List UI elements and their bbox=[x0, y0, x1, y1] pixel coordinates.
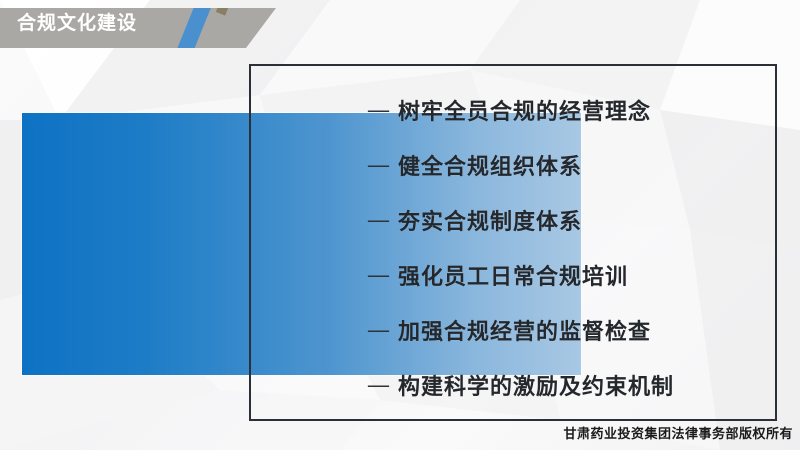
list-item: — 健全合规组织体系 bbox=[249, 137, 777, 192]
page-title: 合规文化建设 bbox=[17, 8, 137, 35]
list-item: — 夯实合规制度体系 bbox=[249, 192, 777, 247]
list-item-label: 健全合规组织体系 bbox=[398, 149, 582, 181]
list-item-label: 加强合规经营的监督检查 bbox=[398, 314, 651, 346]
dash-marker-icon: — bbox=[368, 319, 398, 340]
bullet-list: — 树牢全员合规的经营理念 — 健全合规组织体系 — 夯实合规制度体系 — 强化… bbox=[249, 64, 777, 421]
dash-marker-icon: — bbox=[368, 209, 398, 230]
dash-marker-icon: — bbox=[368, 264, 398, 285]
list-item-label: 夯实合规制度体系 bbox=[398, 204, 582, 236]
list-item: — 构建科学的激励及约束机制 bbox=[249, 357, 777, 412]
list-item: — 树牢全员合规的经营理念 bbox=[249, 82, 777, 137]
list-item: — 加强合规经营的监督检查 bbox=[249, 302, 777, 357]
list-item-label: 强化员工日常合规培训 bbox=[398, 259, 628, 291]
slide-canvas: 合规文化建设 — 树牢全员合规的经营理念 — 健全合规组织体系 — 夯实合规制度… bbox=[0, 0, 800, 450]
list-item: — 强化员工日常合规培训 bbox=[249, 247, 777, 302]
list-item-label: 树牢全员合规的经营理念 bbox=[398, 94, 651, 126]
dash-marker-icon: — bbox=[368, 99, 398, 120]
list-item-label: 构建科学的激励及约束机制 bbox=[398, 369, 674, 401]
dash-marker-icon: — bbox=[368, 374, 398, 395]
footer-copyright: 甘肃药业投资集团法律事务部版权所有 bbox=[563, 423, 793, 442]
dash-marker-icon: — bbox=[368, 154, 398, 175]
